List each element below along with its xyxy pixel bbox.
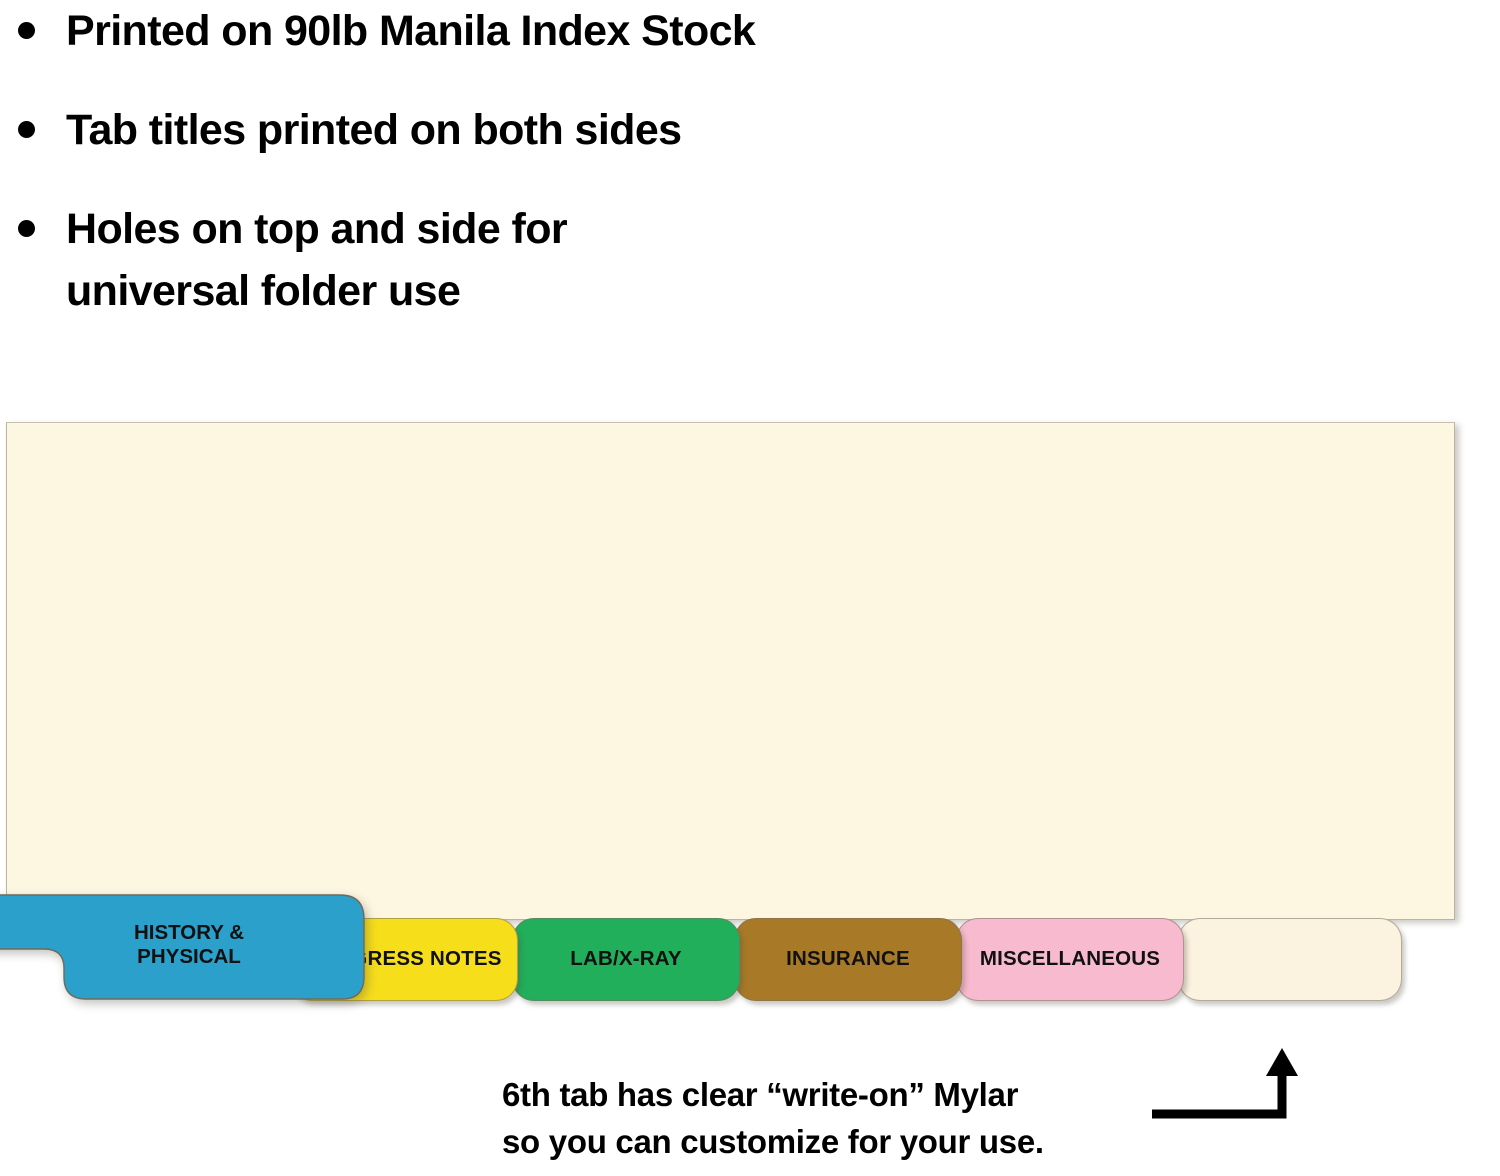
divider-tab-history-physical[interactable]: HISTORY & PHYSICAL	[0, 873, 366, 1001]
divider-tab-lab-xray[interactable]: LAB/X-RAY	[512, 918, 740, 1001]
divider-tab-label: MISCELLANEOUS	[974, 947, 1166, 971]
divider-tab-blank-mylar[interactable]	[1178, 918, 1402, 1001]
divider-tab-label: LAB/X-RAY	[564, 947, 688, 971]
feature-list-item: Tab titles printed on both sides	[0, 99, 1000, 162]
mylar-caption-text: 6th tab has clear “write-on” Mylar so yo…	[502, 1072, 1142, 1166]
feature-text: Holes on top and side for universal fold…	[66, 198, 1000, 324]
round-bullet-icon	[18, 121, 35, 138]
divider-tab-label: INSURANCE	[780, 947, 916, 971]
round-bullet-icon	[18, 220, 35, 237]
divider-product-illustration: HISTORY & PHYSICAL PROGRESS NOTES LAB/X-…	[0, 418, 1500, 1018]
round-bullet-icon	[18, 22, 35, 39]
divider-tab-insurance[interactable]: INSURANCE	[734, 918, 962, 1001]
manila-index-sheet	[6, 422, 1455, 920]
feature-list-item: Printed on 90lb Manila Index Stock	[0, 0, 1000, 63]
feature-text: Tab titles printed on both sides	[66, 99, 1000, 162]
feature-list: Printed on 90lb Manila Index Stock Tab t…	[0, 0, 1000, 323]
divider-tab-label: HISTORY & PHYSICAL	[64, 921, 314, 969]
feature-text: Printed on 90lb Manila Index Stock	[66, 0, 1000, 63]
divider-tab-miscellaneous[interactable]: MISCELLANEOUS	[956, 918, 1184, 1001]
elbow-arrow-up-right-icon	[1148, 1048, 1318, 1126]
feature-list-item: Holes on top and side for universal fold…	[0, 198, 1000, 324]
